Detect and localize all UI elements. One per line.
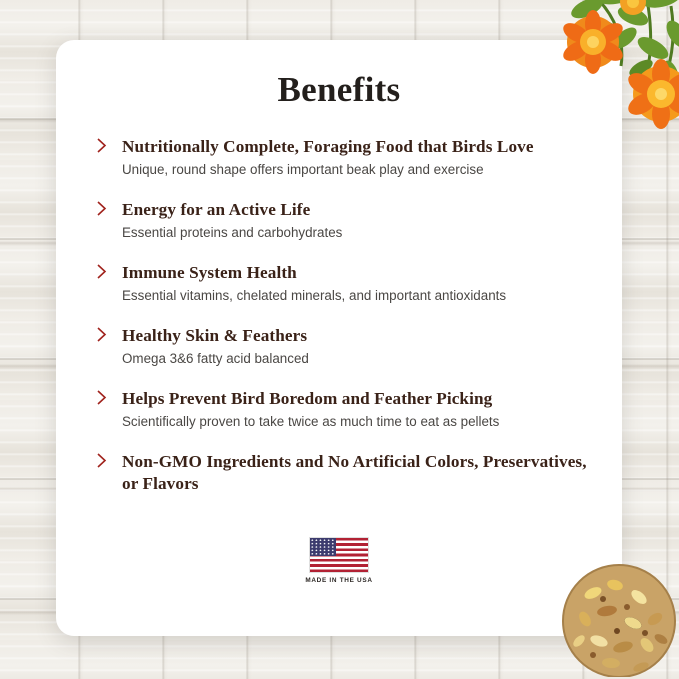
product-infographic: Benefits Nutritionally Complete, Foragin…	[0, 0, 679, 679]
benefit-subtext: Essential vitamins, chelated minerals, a…	[122, 287, 588, 304]
usa-flag-icon	[310, 538, 368, 572]
list-item: Nutritionally Complete, Foraging Food th…	[90, 136, 588, 178]
benefit-subtext: Essential proteins and carbohydrates	[122, 224, 588, 241]
benefit-subtext: Unique, round shape offers important bea…	[122, 161, 588, 178]
list-item: Helps Prevent Bird Boredom and Feather P…	[90, 388, 588, 430]
benefits-card: Benefits Nutritionally Complete, Foragin…	[56, 40, 622, 636]
benefit-heading: Non-GMO Ingredients and No Artificial Co…	[122, 451, 588, 494]
list-item: Energy for an Active Life Essential prot…	[90, 199, 588, 241]
made-in-usa-badge: MADE IN THE USA	[56, 538, 622, 584]
chevron-right-icon	[96, 264, 108, 279]
badge-caption: MADE IN THE USA	[56, 577, 622, 584]
benefit-heading: Healthy Skin & Feathers	[122, 325, 588, 347]
chevron-right-icon	[96, 201, 108, 216]
list-item: Non-GMO Ingredients and No Artificial Co…	[90, 451, 588, 494]
chevron-right-icon	[96, 138, 108, 153]
benefits-list: Nutritionally Complete, Foraging Food th…	[56, 110, 622, 495]
chevron-right-icon	[96, 453, 108, 468]
benefit-heading: Helps Prevent Bird Boredom and Feather P…	[122, 388, 588, 410]
chevron-right-icon	[96, 390, 108, 405]
benefit-heading: Immune System Health	[122, 262, 588, 284]
benefit-heading: Nutritionally Complete, Foraging Food th…	[122, 136, 588, 158]
list-item: Healthy Skin & Feathers Omega 3&6 fatty …	[90, 325, 588, 367]
benefit-heading: Energy for an Active Life	[122, 199, 588, 221]
benefit-subtext: Omega 3&6 fatty acid balanced	[122, 350, 588, 367]
flag-canton	[310, 538, 336, 556]
list-item: Immune System Health Essential vitamins,…	[90, 262, 588, 304]
chevron-right-icon	[96, 327, 108, 342]
benefit-subtext: Scientifically proven to take twice as m…	[122, 413, 588, 430]
page-title: Benefits	[56, 40, 622, 110]
